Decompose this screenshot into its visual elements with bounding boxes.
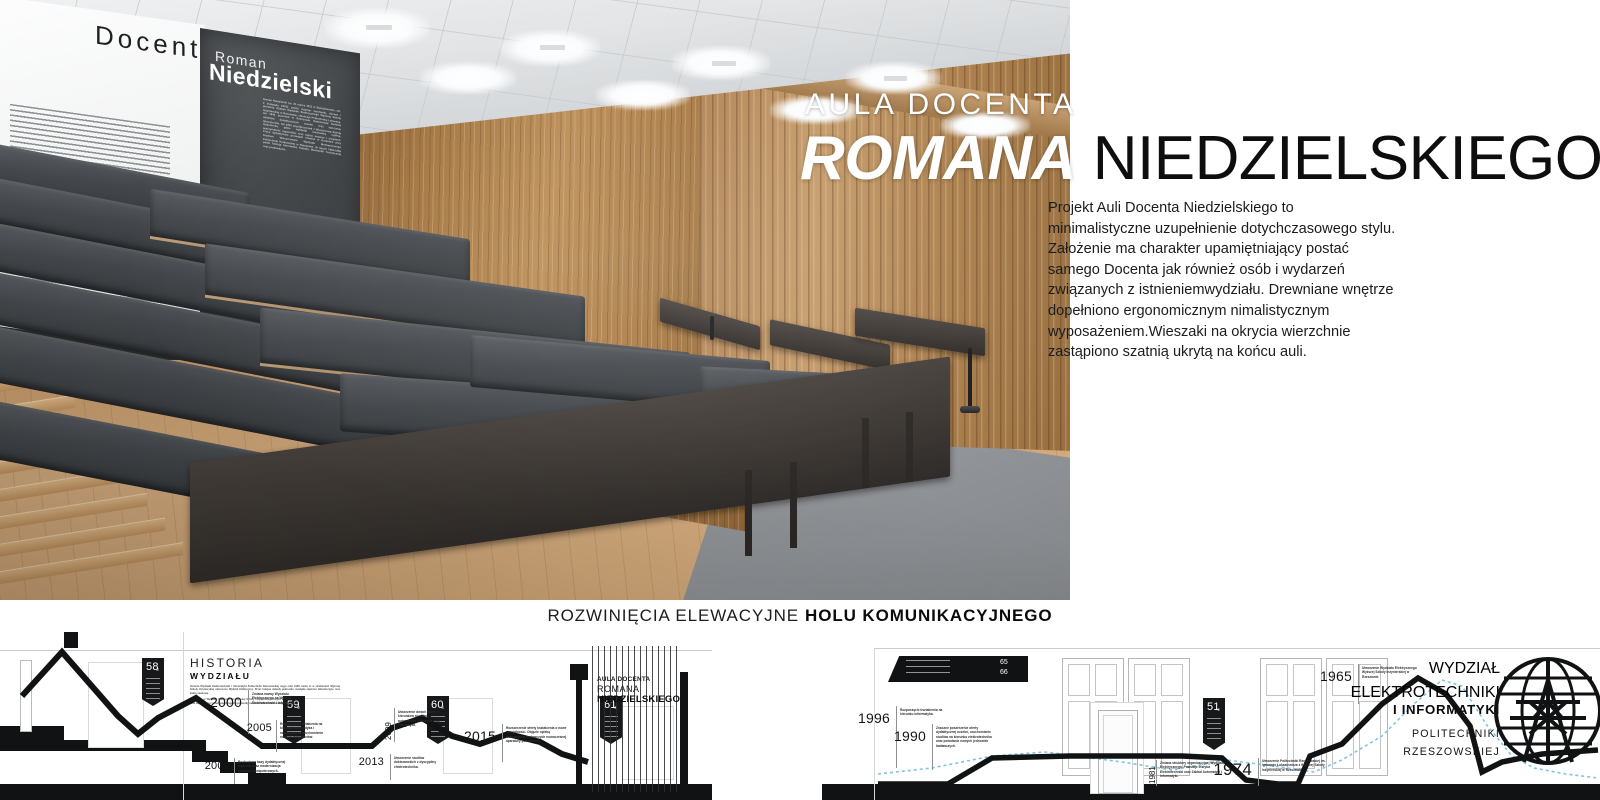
timeline-year-vertical: 2009 (384, 722, 393, 740)
timeline-text: Rozpoczęcie kształcenia na kierunku auto… (280, 722, 328, 740)
timeline-year: 1990 (882, 728, 926, 744)
timeline-text: Rozpoczęcie kształcenia na kierunku info… (900, 708, 952, 717)
timeline-text: Zmiana nazwy Wydziału Elektrycznego na W… (252, 692, 304, 705)
ceiling-light (940, 112, 1030, 139)
desk-leg (790, 462, 797, 548)
desk-leg (862, 418, 869, 488)
ceiling-light (596, 80, 690, 110)
timeline-tick (234, 758, 235, 784)
timeline-year: 2000 (196, 694, 242, 710)
elevation-drawing-right: 65 66 51 (822, 632, 1600, 800)
microphone (968, 348, 972, 410)
timeline-graph (0, 632, 712, 800)
logo-line2: ELEKTROTECHNIKI (1351, 684, 1500, 702)
logo-line4: POLITECHNIKI (1412, 728, 1500, 740)
timeline-tick (394, 708, 395, 742)
timeline-text: Utworzenie Politechniki Rzeszowskiej im.… (1262, 759, 1328, 772)
desk-leg (745, 470, 752, 556)
presentation-board: Docent Roman Niedzielski Roman Niedziels… (0, 0, 1600, 800)
elevation-drawing-left: HISTORIA WYDZIAŁU Historia Wydziału Elek… (0, 632, 712, 800)
timeline-text: Utworzenie dwóch nowych kierunków studió… (398, 710, 446, 728)
section-header-light: ROZWINIĘCIA ELEWACYJNE (547, 606, 799, 626)
description-text: Projekt Auli Docenta Niedzielskiego to m… (1048, 198, 1398, 363)
top-row: Docent Roman Niedzielski Roman Niedziels… (0, 0, 1600, 600)
title-main: NIEDZIELSKIEGO (1076, 124, 1600, 193)
timeline-year: 2008 (196, 760, 230, 772)
ceiling-light-slot (884, 76, 907, 81)
timeline-year: 1965 (1308, 668, 1352, 684)
timeline-year: 2005 (236, 722, 272, 734)
section-header-bold: HOLU KOMUNIKACYJNEGO (805, 606, 1053, 626)
ceiling-light-slot (712, 61, 736, 66)
timeline-year: 1974 (1200, 760, 1252, 780)
timeline-text: Rozbudowa bazy dydaktycznej wydziału ora… (238, 760, 292, 773)
timeline-tick (276, 720, 277, 752)
ceiling-light-slot (366, 25, 392, 30)
timeline-text: Znaczne poszerzenie oferty dydaktycznej … (936, 726, 994, 748)
timeline-year: 1996 (844, 710, 890, 726)
ceiling-light (420, 62, 516, 94)
timeline-tick (1156, 760, 1157, 786)
timeline-tick (502, 724, 503, 762)
ceiling-light-slot (540, 45, 565, 50)
lecture-hall-render: Docent Roman Niedzielski Roman Niedziels… (0, 0, 1070, 600)
pylon-globe-icon (1490, 650, 1600, 772)
timeline-tick (390, 754, 391, 780)
microphone (710, 316, 714, 340)
timeline-year: 2015 (452, 728, 496, 744)
timeline-tick (932, 724, 933, 770)
timeline-year: 2013 (352, 756, 384, 768)
timeline-tick (1258, 758, 1259, 786)
timeline-text: Utworzenie studiów doktoranckich z dyscy… (394, 756, 438, 769)
microphone-base (960, 406, 980, 413)
logo-line3: I INFORMATYKI (1393, 702, 1500, 717)
project-description: Projekt Auli Docenta Niedzielskiego to m… (1048, 198, 1398, 363)
faculty-logo: WYDZIAŁ ELEKTROTECHNIKI I INFORMATYKI PO… (1352, 644, 1592, 789)
logo-line5: RZESZOWSKIEJ (1403, 746, 1500, 758)
section-header: ROZWINIĘCIA ELEWACYJNE HOLU KOMUNIKACYJN… (0, 600, 1600, 632)
ceiling-light (770, 96, 862, 124)
desk-leg (906, 412, 913, 482)
timeline-text: Rozszerzenie oferty kształcenia o nowe s… (506, 726, 568, 744)
